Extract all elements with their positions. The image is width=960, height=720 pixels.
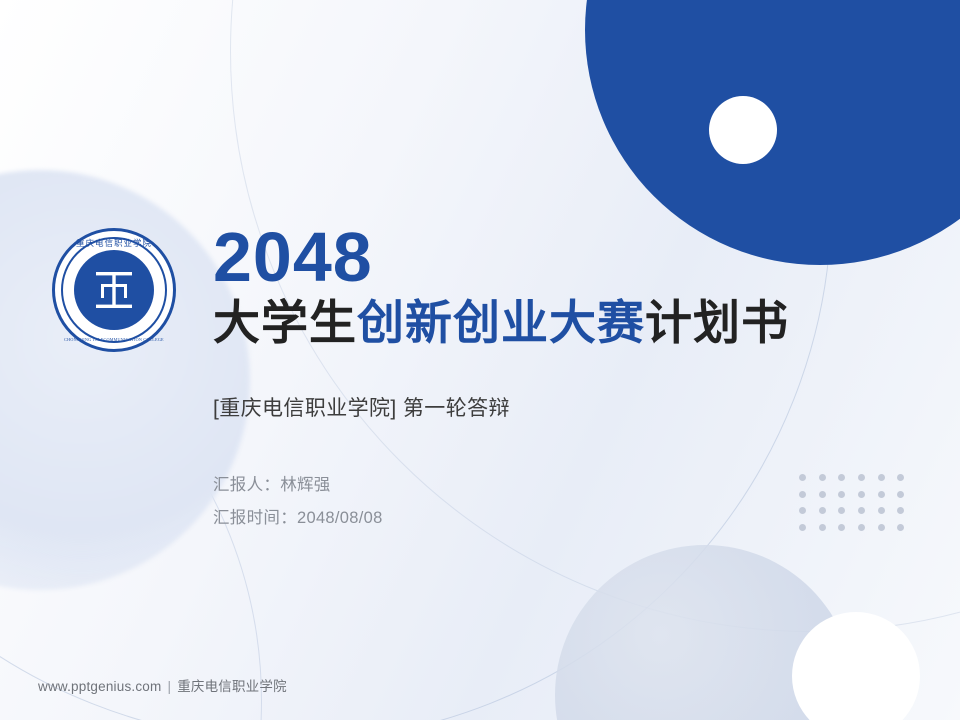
logo-text-bottom: CHONGQING TELECOMMUNICATION COLLEGE	[51, 337, 177, 342]
meta-block: 汇报人：林辉强 汇报时间：2048/08/08	[213, 469, 913, 535]
school-logo: 重庆电信职业学院 CHONGQING TELECOMMUNICATION COL…	[52, 228, 176, 352]
logo-monogram-icon	[74, 250, 154, 330]
logo-text-top: 重庆电信职业学院	[52, 237, 176, 249]
presentation-slide: 重庆电信职业学院 CHONGQING TELECOMMUNICATION COL…	[0, 0, 960, 720]
footer-separator: |	[167, 679, 171, 694]
footer-site: www.pptgenius.com	[38, 679, 161, 694]
title-highlight: 创新创业大赛	[357, 296, 645, 349]
footer: www.pptgenius.com|重庆电信职业学院	[38, 675, 287, 695]
title-block: 2048 大学生创新创业大赛计划书 [重庆电信职业学院] 第一轮答辩 汇报人：林…	[213, 222, 913, 535]
subtitle: [重庆电信职业学院] 第一轮答辩	[213, 392, 913, 422]
date-line: 汇报时间：2048/08/08	[213, 502, 913, 535]
title-part-2: 计划书	[645, 296, 789, 349]
presenter-line: 汇报人：林辉强	[213, 469, 913, 502]
white-dot-decoration	[709, 96, 777, 164]
footer-org: 重庆电信职业学院	[177, 679, 287, 694]
year-heading: 2048	[213, 222, 913, 293]
title-part-1: 大学生	[213, 296, 357, 349]
page-title: 大学生创新创业大赛计划书	[213, 295, 913, 350]
